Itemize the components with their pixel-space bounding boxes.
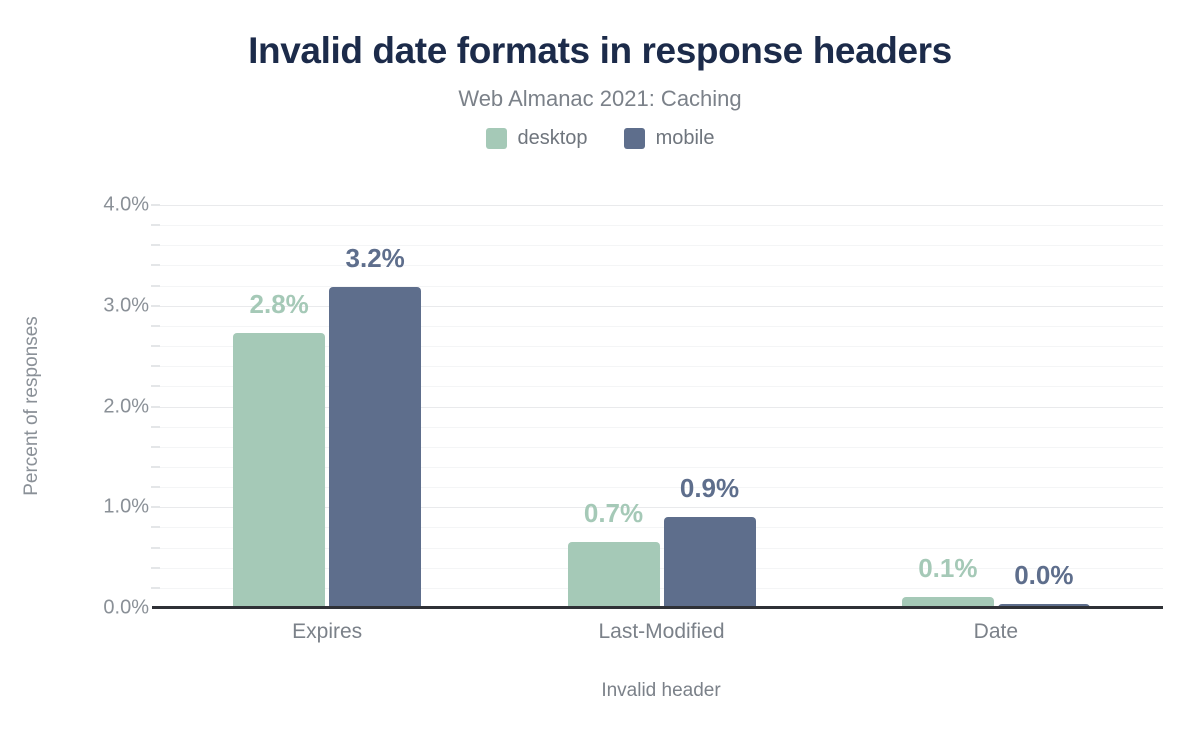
y-tick-mark <box>151 547 160 548</box>
y-tick-mark <box>151 587 160 588</box>
y-tick-mark <box>151 285 160 286</box>
y-tick-mark <box>151 325 160 326</box>
x-tick-label-last-modified: Last-Modified <box>598 620 724 644</box>
y-tick-mark <box>151 507 160 508</box>
y-tick-mark <box>151 265 160 266</box>
y-tick-mark <box>151 366 160 367</box>
y-tick-mark <box>151 305 160 306</box>
bar-mobile-expires[interactable] <box>329 287 421 608</box>
bar-label-mobile-date: 0.0% <box>1014 562 1073 588</box>
bar-label-mobile-expires: 3.2% <box>346 245 405 271</box>
y-tick-mark <box>151 426 160 427</box>
x-tick-label-date: Date <box>974 620 1018 644</box>
bar-label-desktop-date: 0.1% <box>918 555 977 581</box>
x-axis-baseline <box>152 606 1163 609</box>
bar-label-desktop-expires: 2.8% <box>250 291 309 317</box>
y-tick-label: 3.0% <box>103 294 149 317</box>
y-tick-mark <box>151 245 160 246</box>
bars-layer: 2.8%3.2%0.7%0.9%0.1%0.0% <box>160 205 1163 608</box>
y-axis-title: Percent of responses <box>21 316 43 496</box>
y-tick-mark <box>151 205 160 206</box>
bar-mobile-last-modified[interactable] <box>664 517 756 608</box>
y-tick-label: 4.0% <box>103 194 149 217</box>
bar-desktop-last-modified[interactable] <box>568 542 660 608</box>
y-tick-label: 1.0% <box>103 496 149 519</box>
y-tick-mark <box>151 567 160 568</box>
y-tick-mark <box>151 386 160 387</box>
y-tick-mark <box>151 466 160 467</box>
bar-label-desktop-last-modified: 0.7% <box>584 500 643 526</box>
chart-plot: Percent of responses 0.0%1.0%2.0%3.0%4.0… <box>0 0 1200 742</box>
bar-label-mobile-last-modified: 0.9% <box>680 475 739 501</box>
y-tick-mark <box>151 346 160 347</box>
bar-desktop-expires[interactable] <box>233 333 325 608</box>
y-tick-mark <box>151 487 160 488</box>
y-tick-mark <box>151 225 160 226</box>
y-tick-mark <box>151 527 160 528</box>
y-tick-mark <box>151 446 160 447</box>
y-tick-label: 0.0% <box>103 597 149 620</box>
plot-area: 2.8%3.2%0.7%0.9%0.1%0.0% <box>160 205 1163 608</box>
x-tick-label-expires: Expires <box>292 620 362 644</box>
y-tick-label: 2.0% <box>103 395 149 418</box>
y-tick-mark <box>151 406 160 407</box>
x-axis-title: Invalid header <box>601 680 720 702</box>
